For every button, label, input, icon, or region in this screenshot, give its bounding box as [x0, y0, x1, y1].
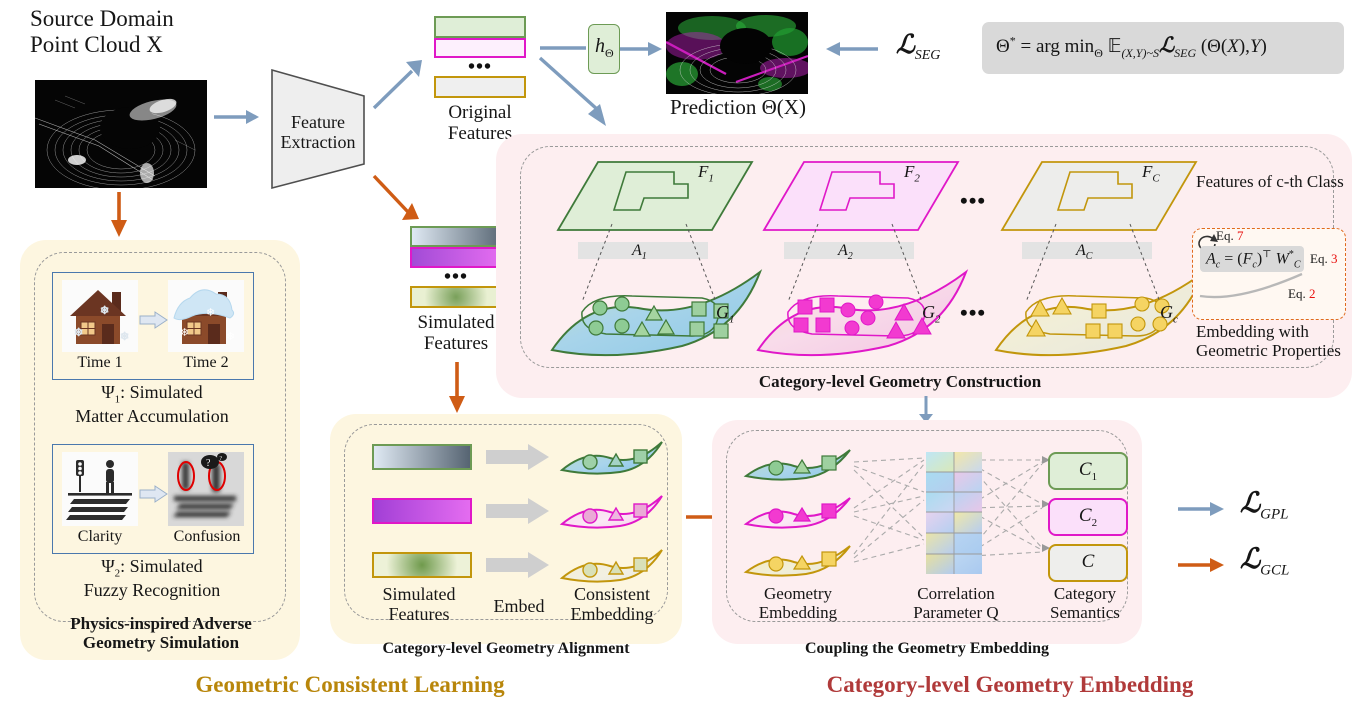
coupling-col3-line1: Category: [1032, 584, 1138, 603]
alignment-embed-arrow-1: [486, 444, 550, 470]
svg-text:❄: ❄: [206, 307, 215, 319]
psi2-label: Ψ2: Simulated Fuzzy Recognition: [46, 556, 258, 600]
g1-label: G1: [716, 302, 735, 326]
physics-panel-title: Physics-inspired Adverse Geometry Simula…: [26, 614, 296, 652]
svg-text:❄: ❄: [180, 327, 189, 339]
class-1-label: C1: [1050, 459, 1126, 483]
footer-left-title: Geometric Consistent Learning: [80, 672, 620, 698]
alignment-sim-bar-1: [372, 444, 472, 470]
feature-extraction-line2: Extraction: [268, 132, 368, 152]
psi2-line2: Fuzzy Recognition: [46, 580, 258, 600]
arrow-source-to-physics: [108, 192, 130, 238]
psi1-line1: : Simulated: [120, 382, 203, 402]
loss-gpl-subscript: GPL: [1260, 507, 1288, 523]
coupling-col1-line2: Embedding: [736, 603, 860, 622]
construction-panel-title: Category-level Geometry Construction: [560, 372, 1240, 391]
alignment-embedding-blob-2: [558, 488, 666, 534]
plane-1-label: F1: [698, 162, 714, 184]
eq3-number: 3: [1331, 251, 1338, 266]
loss-seg-subscript: SEG: [915, 48, 941, 63]
features-of-class-label: Features of c-th Class: [1196, 172, 1344, 192]
segmentation-formula: Θ* = arg minΘ 𝔼(X,Y)~SℒSEG (Θ(X),Y): [996, 33, 1267, 61]
plane-2-label: F2: [904, 162, 920, 184]
embedding-line1: Embedding with: [1196, 322, 1341, 341]
alignment-col3-label: Consistent Embedding: [552, 584, 672, 624]
house-time2-image: ❄ ❄ ❄: [168, 280, 244, 352]
source-domain-line2: Point Cloud X: [30, 32, 174, 58]
correlation-parameter-grid: [926, 452, 982, 574]
original-feature-bar-1: [434, 16, 526, 38]
alignment-col1-line2: Features: [354, 604, 484, 624]
coupling-col1-label: Geometry Embedding: [736, 584, 860, 622]
coupling-col3-line2: Semantics: [1032, 603, 1138, 622]
arrow-time1-to-time2: [140, 312, 168, 328]
crosswalk-clarity-image: [62, 452, 138, 526]
segmentation-formula-box: Θ* = arg minΘ 𝔼(X,Y)~SℒSEG (Θ(X),Y): [982, 22, 1344, 74]
connector-lines-2: [762, 222, 962, 304]
psi2-line1: : Simulated: [120, 556, 203, 576]
time1-caption: Time 1: [62, 354, 138, 372]
alignment-sim-bar-3: [372, 552, 472, 578]
loss-seg-label: ℒSEG: [896, 30, 940, 64]
loss-gcl-label: ℒGCL: [1240, 542, 1289, 580]
arrow-loss-to-prediction: [826, 40, 878, 58]
alignment-sim-bar-2: [372, 498, 472, 524]
category-semantics-box-2: C2: [1048, 498, 1128, 536]
original-features-line1: Original: [424, 102, 536, 123]
confusion-caption: Confusion: [166, 528, 248, 546]
svg-text:?: ?: [206, 458, 211, 469]
alignment-col3-line2: Embedding: [552, 604, 672, 624]
construction-ellipsis-bottom: •••: [960, 300, 986, 326]
feature-extraction-label: Feature Extraction: [268, 112, 368, 152]
class-2-label: C2: [1050, 505, 1126, 529]
source-domain-line1: Source Domain: [30, 6, 174, 32]
simulated-feature-bar-2: [410, 247, 502, 268]
svg-text:❄: ❄: [100, 305, 109, 317]
alignment-embed-arrow-3: [486, 552, 550, 578]
coupling-col2-line2: Parameter Q: [886, 603, 1026, 622]
eq7-number: 7: [1237, 228, 1244, 243]
arrow-features-to-htheta: [540, 40, 588, 56]
arrow-to-gpl-loss: [1178, 500, 1226, 518]
original-feature-bar-2: [434, 38, 526, 58]
alignment-panel-title: Category-level Geometry Alignment: [330, 640, 682, 658]
coupling-panel-title: Coupling the Geometry Embedding: [712, 640, 1142, 658]
simulated-feature-bar-1: [410, 226, 502, 247]
embedding-geometric-label: Embedding with Geometric Properties: [1196, 322, 1341, 360]
loss-gpl-label: ℒGPL: [1240, 486, 1289, 524]
ac-equation-text: Ac = (Fc)⊤ W*C: [1206, 249, 1301, 271]
eq2-number: 2: [1309, 286, 1316, 301]
alignment-col3-line1: Consistent: [552, 584, 672, 604]
class-c-label: C: [1050, 551, 1126, 575]
plane-c-label: FC: [1142, 162, 1160, 184]
arrow-source-to-extraction: [214, 108, 260, 126]
arrow-clarity-to-confusion: [140, 486, 168, 502]
psi2-symbol: Ψ: [101, 556, 114, 576]
arrow-simulated-to-alignment: [446, 362, 468, 414]
footer-right-title: Category-level Geometry Embedding: [700, 672, 1320, 698]
physics-title-line2: Geometry Simulation: [26, 633, 296, 652]
arrow-htheta-to-prediction: [620, 40, 664, 58]
coupling-blob-1: [742, 444, 854, 486]
clarity-caption: Clarity: [62, 528, 138, 546]
connector-lines-c: [1000, 222, 1200, 304]
svg-text:❄: ❄: [120, 331, 129, 343]
category-semantics-box-3: C: [1048, 544, 1128, 582]
loss-gcl-subscript: GCL: [1260, 563, 1289, 579]
prediction-label: Prediction Θ(X): [660, 96, 816, 120]
arrow-extraction-to-simulated: [372, 172, 424, 228]
gc-label: Gc: [1160, 302, 1178, 326]
svg-text:?: ?: [220, 456, 223, 462]
psi1-line2: Matter Accumulation: [46, 406, 258, 426]
arrow-extraction-to-original: [372, 56, 428, 112]
prediction-image: [666, 12, 808, 94]
ac-equation-box: Ac = (Fc)⊤ W*C: [1200, 246, 1304, 272]
eq7-label: Eq. 7: [1216, 228, 1243, 244]
construction-ellipsis-top: •••: [960, 188, 986, 214]
psi1-symbol: Ψ: [101, 382, 114, 402]
feature-extraction-line1: Feature: [268, 112, 368, 132]
source-domain-title: Source Domain Point Cloud X: [30, 6, 174, 58]
g2-label: G2: [922, 302, 941, 326]
alignment-embedding-blob-3: [558, 542, 666, 588]
alignment-col1-label: Simulated Features: [354, 584, 484, 624]
house-time1-image: ❄ ❄ ❄: [62, 280, 138, 352]
physics-title-line1: Physics-inspired Adverse: [26, 614, 296, 633]
original-feature-bar-3: [434, 76, 526, 98]
arrow-to-gcl-loss: [1178, 556, 1226, 574]
coupling-col3-label: Category Semantics: [1032, 584, 1138, 622]
coupling-blob-2: [742, 492, 854, 534]
connector-lines-1: [556, 222, 756, 304]
psi1-label: Ψ1: Simulated Matter Accumulation: [46, 382, 258, 426]
alignment-col1-line1: Simulated: [354, 584, 484, 604]
eq2-label: Eq. 2: [1288, 286, 1315, 302]
alignment-col2-label: Embed: [486, 596, 552, 617]
eq3-label: Eq. 3: [1310, 251, 1337, 267]
source-point-cloud-image: [35, 80, 207, 188]
coupling-col2-label: Correlation Parameter Q: [886, 584, 1026, 622]
time2-caption: Time 2: [168, 354, 244, 372]
crosswalk-confusion-image: ? ?: [168, 452, 244, 526]
embedding-line2: Geometric Properties: [1196, 341, 1341, 360]
coupling-col2-line1: Correlation: [886, 584, 1026, 603]
arrow-features-to-construction: [540, 58, 624, 134]
coupling-blob-3: [742, 540, 854, 582]
svg-text:❄: ❄: [74, 327, 83, 339]
category-semantics-box-1: C1: [1048, 452, 1128, 490]
alignment-embed-arrow-2: [486, 498, 550, 524]
coupling-col1-line1: Geometry: [736, 584, 860, 603]
alignment-embedding-blob-1: [558, 434, 666, 480]
simulated-feature-bar-3: [410, 286, 502, 308]
svg-text:❄: ❄: [226, 331, 235, 343]
